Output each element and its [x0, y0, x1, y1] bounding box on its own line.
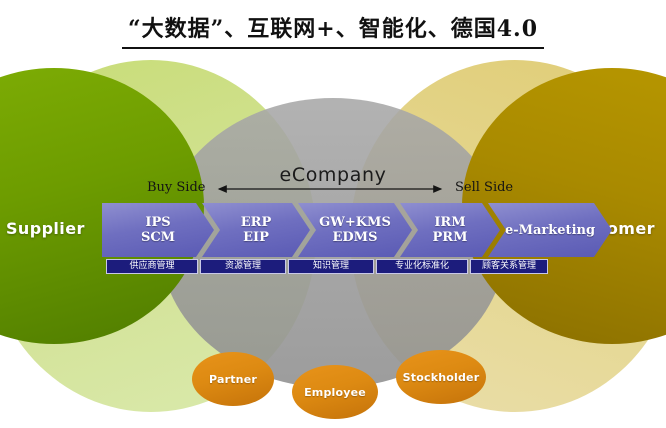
process-label-row: 供应商管理 资源管理 知识管理 专业化标准化 顾客关系管理	[106, 259, 550, 274]
stakeholder-oval-employee[interactable]: Employee	[292, 365, 378, 419]
stakeholder-oval-employee-label: Employee	[304, 386, 366, 399]
stakeholder-oval-stockholder-label: Stockholder	[403, 371, 480, 384]
blue-label-resource-management[interactable]: 资源管理	[200, 259, 286, 274]
blue-label-supplier-management[interactable]: 供应商管理	[106, 259, 198, 274]
chevron-step-1-label: IPS SCM	[141, 215, 175, 245]
chevron-step-3-label: GW+KMS EDMS	[319, 215, 391, 245]
chevron-step-4-label: IRM PRM	[433, 215, 468, 245]
slide-canvas: “大数据”、互联网+、智能化、德国4.0 Supplier Customer e…	[0, 0, 666, 428]
buy-side-label: Buy Side	[147, 180, 205, 195]
buy-sell-double-arrow-icon	[210, 180, 450, 198]
blue-label-knowledge-management[interactable]: 知识管理	[288, 259, 374, 274]
page-title-text: “大数据”、互联网+、智能化、德国4.0	[122, 16, 544, 49]
chevron-step-2-label: ERP EIP	[241, 215, 272, 245]
supplier-label: Supplier	[6, 219, 85, 238]
stakeholder-oval-partner-label: Partner	[209, 373, 257, 386]
chevron-step-3[interactable]: GW+KMS EDMS	[298, 203, 412, 257]
chevron-step-5-label: e-Marketing	[505, 223, 595, 238]
chevron-step-4[interactable]: IRM PRM	[400, 203, 500, 257]
blue-label-specialization-standardization[interactable]: 专业化标准化	[376, 259, 468, 274]
page-title: “大数据”、互联网+、智能化、德国4.0	[0, 16, 666, 49]
chevron-step-2[interactable]: ERP EIP	[202, 203, 310, 257]
chevron-step-1[interactable]: IPS SCM	[102, 203, 214, 257]
sell-side-label: Sell Side	[455, 180, 513, 195]
blue-label-customer-relationship-management[interactable]: 顾客关系管理	[470, 259, 548, 274]
stakeholder-oval-partner[interactable]: Partner	[192, 352, 274, 406]
process-chevron-band: IPS SCM ERP EIP GW+KMS EDMS IRM PRM e-Ma…	[102, 203, 562, 257]
chevron-step-5[interactable]: e-Marketing	[488, 203, 612, 257]
stakeholder-oval-stockholder[interactable]: Stockholder	[396, 350, 486, 404]
